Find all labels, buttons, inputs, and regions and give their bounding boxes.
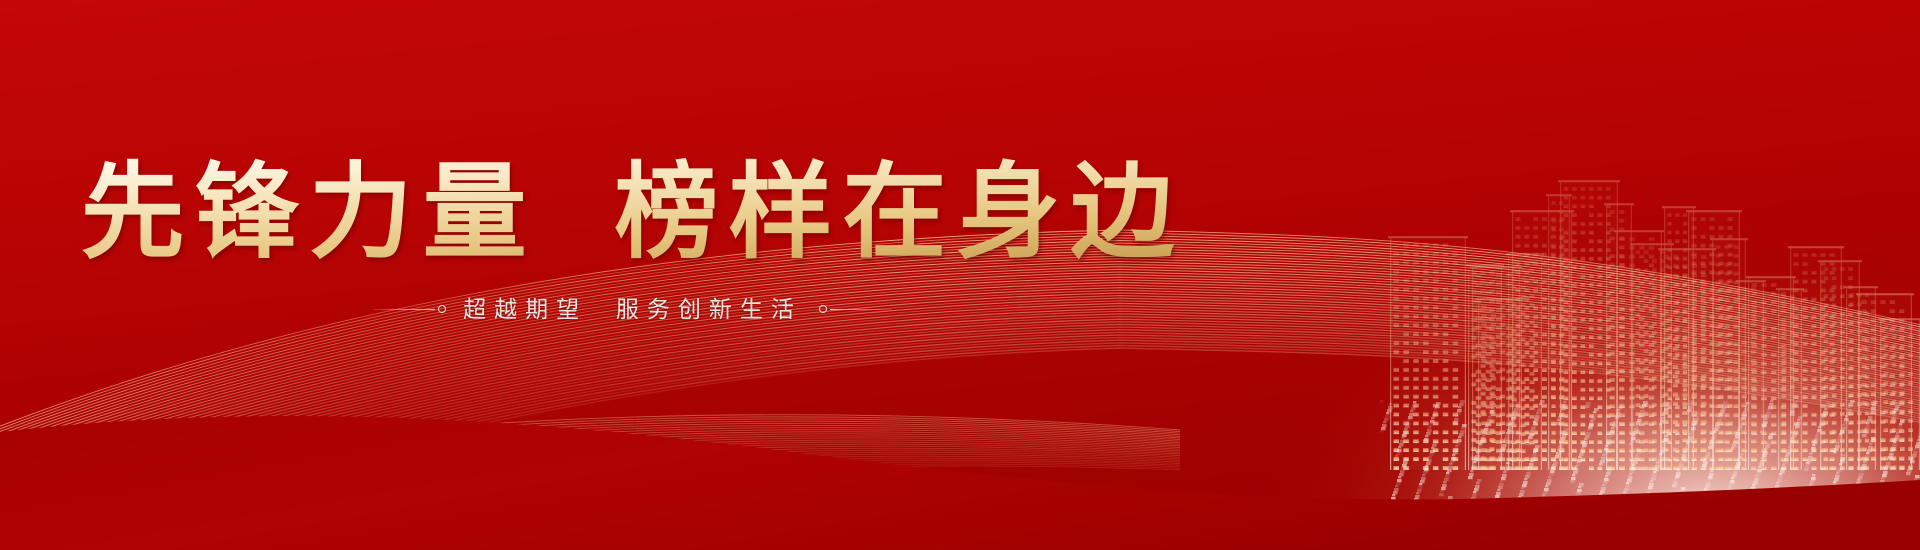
skyline-pixel: [1790, 440, 1795, 443]
skyline-pixel: [1582, 444, 1587, 447]
skyline-pixel: [1767, 409, 1770, 411]
skyline-pixel: [1764, 448, 1767, 450]
skyline-pixel: [1648, 486, 1653, 489]
skyline-pixel: [1514, 408, 1519, 411]
skyline-pixel: [1425, 465, 1428, 467]
skyline-pixel: [1761, 457, 1764, 459]
skyline-pixel: [1841, 457, 1846, 460]
skyline-pixel: [1548, 476, 1551, 478]
skyline-pixel: [1793, 431, 1798, 434]
skyline-pixel: [1763, 421, 1768, 424]
skyline-pixel: [1602, 454, 1605, 456]
skyline-pixel: [1811, 447, 1816, 450]
skyline-pixel: [1734, 468, 1737, 470]
skyline-pixel: [1406, 422, 1411, 425]
skyline-pixel: [1808, 456, 1813, 459]
skyline-pixel: [1895, 435, 1900, 438]
skyline-pixel: [1458, 406, 1461, 408]
skyline-pixel: [1397, 449, 1402, 452]
skyline-pixel: [1527, 439, 1530, 441]
skyline-pixel: [1892, 444, 1897, 447]
skyline-pixel: [1737, 429, 1740, 431]
skyline-pixel: [1809, 453, 1812, 455]
skyline-pixel: [1614, 418, 1617, 420]
skyline-pixel: [1720, 410, 1725, 413]
skyline-pixel: [1424, 468, 1429, 471]
skyline-pixel: [1913, 451, 1918, 454]
skyline-pixel: [1704, 488, 1707, 490]
skyline-pixel: [1537, 409, 1542, 412]
skyline-pixel: [1447, 469, 1452, 472]
skyline-pixel: [1768, 436, 1773, 439]
skyline-pixel: [1418, 486, 1423, 489]
skyline-pixel: [1556, 452, 1561, 455]
skyline-pixel: [1690, 430, 1695, 433]
skyline-pixel: [1634, 458, 1639, 461]
skyline-pixel: [1862, 434, 1867, 437]
skyline-pixel: [1610, 430, 1615, 433]
skyline-pixel: [1777, 479, 1782, 482]
skyline-pixel: [1425, 435, 1428, 437]
skyline-pixel: [1675, 475, 1680, 478]
skyline-pixel: [1914, 448, 1917, 450]
skyline-pixel: [1387, 409, 1392, 412]
skyline-pixel: [1506, 432, 1509, 434]
skyline-pixel: [1432, 414, 1437, 417]
skyline-pixel: [1739, 423, 1744, 426]
skyline-pixel: [1711, 437, 1716, 440]
skyline-pixel: [1740, 420, 1743, 422]
skyline-pixel: [1735, 435, 1740, 438]
skyline-pixel: [1836, 472, 1839, 474]
skyline-pixel: [1767, 439, 1770, 441]
skyline-pixel: [1633, 461, 1638, 464]
skyline-pixel: [1528, 466, 1533, 469]
skyline-pixel: [1547, 479, 1552, 482]
skyline-pixel: [1865, 455, 1870, 458]
skyline-pixel: [1674, 478, 1677, 480]
skyline-pixel: [1754, 478, 1759, 481]
skyline-pixel: [1495, 495, 1500, 498]
skyline-pixel: [1485, 425, 1488, 427]
skyline-pixel: [1863, 431, 1866, 433]
skyline-pixel: [1899, 423, 1902, 425]
skyline-pixel: [1689, 403, 1692, 405]
skyline-pixel: [1508, 426, 1513, 429]
skyline-pixel: [1459, 403, 1464, 406]
skyline-pixel: [1640, 410, 1645, 413]
skyline-pixel: [1734, 438, 1737, 440]
skyline-pixel: [1681, 457, 1686, 460]
skyline-pixel: [1888, 456, 1893, 459]
skyline-pixel: [1590, 420, 1593, 422]
skyline-pixel: [1578, 456, 1581, 458]
skyline-pixel: [1712, 434, 1717, 437]
skyline-pixel: [1710, 470, 1713, 472]
skyline-pixel: [1769, 433, 1774, 436]
skyline-pixel: [1632, 434, 1635, 436]
skyline-pixel: [1443, 481, 1446, 483]
skyline-pixel: [1837, 439, 1842, 442]
skyline-pixel: [1603, 451, 1608, 454]
skyline-pixel: [1457, 409, 1462, 412]
skyline-pixel: [1718, 416, 1723, 419]
skyline-pixel: [1530, 430, 1533, 432]
skyline-pixel: [1395, 485, 1398, 487]
skyline-pixel: [1503, 441, 1506, 443]
skyline-pixel: [1623, 491, 1626, 493]
skyline-pixel: [1427, 429, 1432, 432]
skyline-pixel: [1397, 479, 1402, 482]
skyline-pixel: [1779, 473, 1782, 475]
skyline-pixel: [1705, 455, 1710, 458]
skyline-pixel: [1559, 443, 1564, 446]
skyline-pixel: [1579, 453, 1584, 456]
skyline-pixel: [1785, 455, 1788, 457]
skyline-pixel: [1601, 487, 1606, 490]
skyline-pixel: [1843, 421, 1848, 424]
skyline-pixel: [1867, 419, 1872, 422]
skyline-pixel: [1471, 467, 1476, 470]
skyline-pixel: [1448, 496, 1453, 499]
skyline-pixel: [1473, 461, 1476, 463]
skyline-pixel: [1563, 401, 1566, 403]
skyline-pixel: [1472, 494, 1477, 497]
skyline-pixel: [1815, 435, 1818, 437]
skyline-pixel: [1631, 437, 1636, 440]
skyline-pixel: [1844, 418, 1849, 421]
skyline-pixel: [1499, 483, 1504, 486]
skyline-pixel: [1475, 485, 1480, 488]
skyline-pixel: [1817, 429, 1822, 432]
skyline-pixel: [1533, 421, 1536, 423]
skyline-pixel: [1519, 493, 1524, 496]
skyline-pixel: [1642, 404, 1647, 407]
skyline-pixel: [1479, 443, 1482, 445]
skyline-pixel: [1723, 401, 1728, 404]
skyline-pixel: [1631, 467, 1636, 470]
skyline-pixel: [1858, 476, 1863, 479]
skyline-pixel: [1914, 478, 1917, 480]
skyline-pixel: [1585, 435, 1590, 438]
skyline-pixel: [1863, 461, 1866, 463]
skyline-pixel: [1811, 477, 1816, 480]
skyline-pixel: [1663, 441, 1668, 444]
skyline-pixel: [1752, 484, 1755, 486]
skyline-pixel: [1498, 456, 1503, 459]
skyline-pixel: [1552, 464, 1557, 467]
skyline-pixel: [1744, 408, 1749, 411]
skyline-pixel: [1860, 470, 1863, 472]
skyline-pixel: [1795, 425, 1800, 428]
skyline-pixel: [1401, 437, 1404, 439]
skyline-pixel: [1451, 457, 1456, 460]
skyline-pixel: [1636, 422, 1641, 425]
skyline-pixel: [1496, 492, 1501, 495]
skyline-pixel: [1665, 435, 1668, 437]
skyline-pixel: [1400, 440, 1405, 443]
skyline-pixel: [1756, 472, 1761, 475]
skyline-pixel: [1687, 409, 1692, 412]
skyline-pixel: [1705, 485, 1710, 488]
skyline-pixel: [1659, 453, 1662, 455]
skyline-pixel: [1551, 467, 1554, 469]
skyline-pixel: [1758, 466, 1761, 468]
skyline-pixel: [1433, 411, 1438, 414]
skyline-pixel: [1681, 487, 1686, 490]
skyline-pixel: [1886, 462, 1891, 465]
deco-circle-left-icon: [438, 305, 446, 313]
skyline-pixel: [1499, 453, 1504, 456]
skyline-pixel: [1486, 422, 1491, 425]
skyline-pixel: [1739, 453, 1744, 456]
skyline-pixel: [1896, 432, 1899, 434]
skyline-pixel: [1509, 423, 1512, 425]
skyline-pixel: [1528, 436, 1533, 439]
skyline-pixel: [1635, 425, 1638, 427]
skyline-pixel: [1762, 424, 1767, 427]
skyline-pixel: [1452, 454, 1455, 456]
skyline-pixel: [1441, 487, 1446, 490]
skyline-pixel: [1639, 413, 1644, 416]
skyline-pixel: [1818, 426, 1821, 428]
skyline-pixel: [1778, 476, 1783, 479]
skyline-pixel: [1753, 481, 1758, 484]
skyline-pixel: [1641, 407, 1644, 409]
skyline-pixel: [1429, 453, 1434, 456]
skyline-pixel: [1677, 469, 1680, 471]
skyline-pixel: [1793, 401, 1798, 404]
skyline-pixel: [1651, 477, 1656, 480]
skyline-pixel: [1381, 427, 1386, 430]
skyline-pixel: [1887, 459, 1890, 461]
skyline-pixel: [1428, 426, 1431, 428]
skyline-pixel: [1837, 469, 1842, 472]
skyline-pixel: [1816, 432, 1821, 435]
skyline-pixel: [1543, 491, 1548, 494]
skyline-pixel: [1714, 428, 1719, 431]
skyline-pixel: [1735, 465, 1740, 468]
skyline-pixel: [1450, 460, 1455, 463]
skyline-pixel: [1731, 477, 1734, 479]
skyline-pixel: [1781, 467, 1786, 470]
skyline-pixel: [1398, 446, 1401, 448]
skyline-pixel: [1733, 471, 1738, 474]
skyline-pixel: [1721, 407, 1726, 410]
skyline-pixel: [1588, 426, 1593, 429]
skyline-pixel: [1460, 430, 1465, 433]
skyline-pixel: [1560, 410, 1563, 412]
skyline-pixel: [1884, 468, 1887, 470]
skyline-pixel: [1458, 436, 1461, 438]
skyline-pixel: [1399, 443, 1404, 446]
skyline-pixel: [1834, 478, 1839, 481]
skyline-pixel: [1422, 474, 1425, 476]
skyline-pixel: [1592, 414, 1597, 417]
skyline-pixel: [1586, 432, 1591, 435]
skyline-pixel: [1692, 424, 1695, 426]
skyline-pixel: [1658, 456, 1663, 459]
skyline-pixel: [1535, 445, 1540, 448]
skyline-pixel: [1501, 477, 1506, 480]
skyline-pixel: [1871, 437, 1876, 440]
skyline-pixel: [1430, 450, 1435, 453]
skyline-pixel: [1501, 447, 1506, 450]
skyline-pixel: [1660, 450, 1665, 453]
skyline-pixel: [1532, 424, 1537, 427]
skyline-pixel: [1424, 438, 1429, 441]
skyline-pixel: [1763, 451, 1768, 454]
skyline-pixel: [1430, 420, 1435, 423]
banner-root: 先锋力量 榜样在身边 超越期望 服务创新生活: [0, 0, 1920, 550]
skyline-pixel: [1542, 494, 1545, 496]
skyline-pixel: [1616, 412, 1621, 415]
skyline-pixel: [1807, 459, 1812, 462]
skyline-pixel: [1583, 441, 1588, 444]
skyline-pixel: [1487, 419, 1492, 422]
skyline-pixel: [1835, 445, 1840, 448]
skyline-pixel: [1736, 432, 1741, 435]
skyline-pixel: [1580, 450, 1585, 453]
skyline-pixel: [1480, 440, 1485, 443]
skyline-pixel: [1912, 454, 1917, 457]
skyline-pixel: [1431, 417, 1434, 419]
skyline-pixel: [1534, 418, 1539, 421]
skyline-pixel: [1757, 469, 1762, 472]
skyline-pixel: [1515, 405, 1518, 407]
skyline-pixel: [1846, 412, 1851, 415]
skyline-pixel: [1883, 471, 1888, 474]
skyline-pixel: [1435, 405, 1440, 408]
deco-circle-right-icon: [819, 305, 827, 313]
skyline-pixel: [1591, 417, 1596, 420]
skyline-pixel: [1659, 423, 1662, 425]
skyline-pixel: [1672, 484, 1677, 487]
skyline-pixel: [1472, 464, 1477, 467]
skyline-pixel: [1745, 405, 1750, 408]
skyline-pixel: [1557, 419, 1560, 421]
skyline-pixel: [1579, 483, 1584, 486]
skyline-pixel: [1456, 442, 1461, 445]
skyline-pixel: [1798, 416, 1803, 419]
skyline-pixel: [1842, 424, 1845, 426]
skyline-pixel: [1665, 405, 1668, 407]
skyline-pixel: [1457, 439, 1462, 442]
skyline-pixel: [1707, 449, 1710, 451]
skyline-pixel: [1760, 430, 1765, 433]
skyline-pixel: [1476, 482, 1479, 484]
skyline-pixel: [1812, 444, 1815, 446]
skyline-pixel: [1664, 408, 1669, 411]
skyline-pixel: [1625, 485, 1630, 488]
skyline-pixel: [1680, 460, 1683, 462]
skyline-pixel: [1762, 454, 1767, 457]
skyline-pixel: [1729, 483, 1734, 486]
skyline-pixel: [1433, 441, 1438, 444]
skyline-pixel: [1513, 411, 1518, 414]
skyline-pixel: [1469, 473, 1474, 476]
skyline-pixel: [1505, 465, 1510, 468]
skyline-pixel: [1416, 492, 1419, 494]
skyline-pixel: [1500, 450, 1503, 452]
skyline-pixel: [1615, 415, 1620, 418]
skyline-pixel: [1620, 400, 1623, 402]
skyline-pixel: [1439, 493, 1444, 496]
skyline-pixel: [1766, 412, 1771, 415]
skyline-pixel: [1475, 455, 1480, 458]
skyline-pixel: [1600, 460, 1605, 463]
skyline-pixel: [1891, 447, 1896, 450]
skyline-pixel: [1736, 462, 1741, 465]
skyline-pixel: [1553, 461, 1558, 464]
skyline-pixel: [1790, 410, 1795, 413]
skyline-pixel: [1453, 451, 1458, 454]
skyline-pixel: [1765, 415, 1770, 418]
skyline-pixel: [1656, 462, 1659, 464]
skyline-pixel: [1421, 477, 1426, 480]
skyline-pixel: [1530, 460, 1533, 462]
skyline-pixel: [1396, 482, 1401, 485]
skyline-pixel: [1709, 473, 1714, 476]
skyline-pixel: [1578, 486, 1581, 488]
skyline-pixel: [1618, 406, 1623, 409]
skyline-pixel: [1824, 408, 1827, 410]
skyline-pixel: [1428, 456, 1431, 458]
skyline-pixel: [1908, 466, 1911, 468]
skyline-pixel: [1429, 423, 1434, 426]
skyline-pixel: [1574, 468, 1579, 471]
skyline-pixel: [1782, 464, 1785, 466]
skyline-pixel: [1523, 481, 1528, 484]
skyline-pixel: [1476, 452, 1479, 454]
skyline-pixel: [1696, 412, 1701, 415]
skyline-pixel: [1449, 463, 1452, 465]
skyline-pixel: [1427, 459, 1432, 462]
skyline-pixel: [1409, 413, 1414, 416]
skyline-pixel: [1909, 463, 1914, 466]
skyline-pixel: [1813, 441, 1818, 444]
skyline-pixel: [1473, 491, 1476, 493]
skyline-pixel: [1386, 412, 1389, 414]
skyline-pixel: [1516, 402, 1521, 405]
skyline-pixel: [1497, 459, 1500, 461]
skyline-pixel: [1694, 418, 1699, 421]
skyline-pixel: [1504, 438, 1509, 441]
skyline-pixel: [1410, 410, 1413, 412]
skyline-pixel: [1561, 437, 1566, 440]
skyline-pixel: [1557, 449, 1560, 451]
skyline-pixel: [1687, 439, 1692, 442]
skyline-pixel: [1608, 436, 1611, 438]
skyline-pixel: [1417, 489, 1422, 492]
skyline-pixel: [1525, 475, 1530, 478]
skyline-pixel: [1768, 406, 1773, 409]
skyline-pixel: [1764, 418, 1767, 420]
skyline-pixel: [1586, 402, 1591, 405]
skyline-pixel: [1468, 476, 1473, 479]
skyline-pixel: [1396, 452, 1401, 455]
skyline-pixel: [1866, 422, 1869, 424]
skyline-pixel: [1657, 459, 1662, 462]
skyline-pixel: [1786, 452, 1791, 455]
skyline-pixel: [1602, 484, 1605, 486]
headline-block: 先锋力量 榜样在身边 超越期望 服务创新生活: [0, 150, 1265, 324]
skyline-pixel: [1607, 469, 1612, 472]
skyline-pixel: [1420, 480, 1425, 483]
skyline-pixel: [1558, 416, 1563, 419]
skyline-pixel: [1459, 433, 1464, 436]
skyline-pixel: [1730, 480, 1735, 483]
